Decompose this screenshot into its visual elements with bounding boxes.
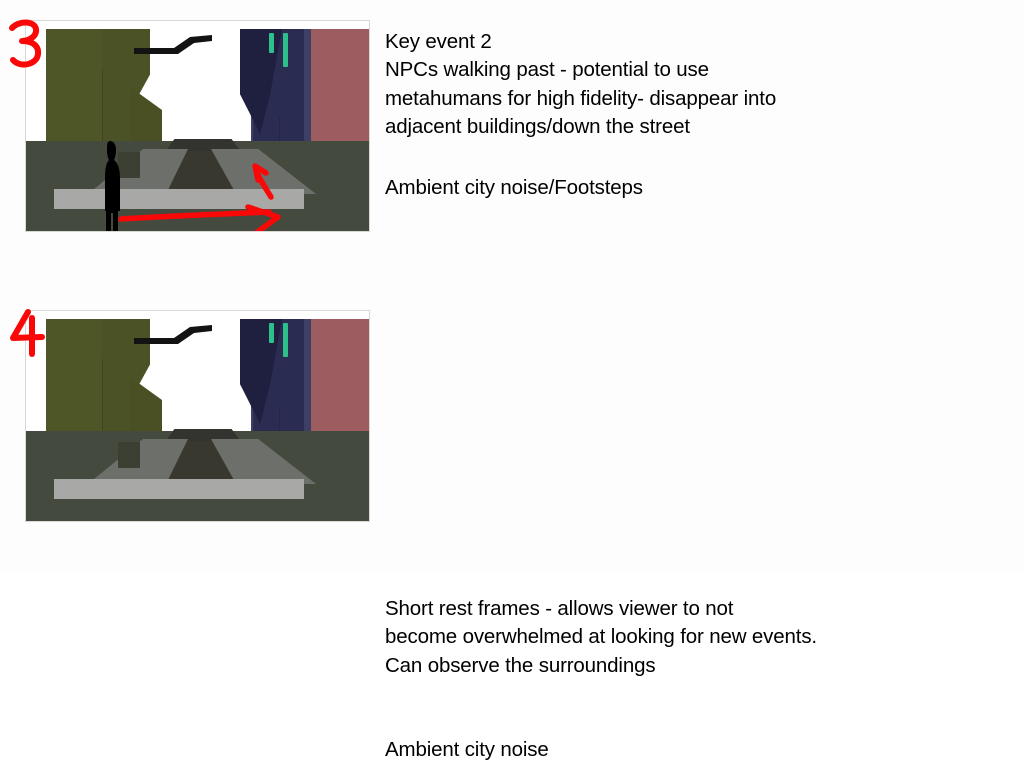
teal-accent-strip-right <box>283 323 288 357</box>
scene-panel-rest-frame[interactable] <box>25 310 370 522</box>
teal-accent-strip-left <box>269 323 274 343</box>
frame-index-number-3: 3 <box>8 18 54 70</box>
ground-plane-near <box>26 209 369 232</box>
note-heading-row-1: Key event 2 <box>385 28 985 56</box>
storyboard-row-2: 4 Short rest frames - allows viewer to n… <box>0 290 1024 560</box>
notes-column-row-1: Key event 2 NPCs walking past - potentia… <box>385 28 985 202</box>
overhead-pipe <box>134 34 212 56</box>
overhead-pipe <box>134 324 212 346</box>
storyboard-row-1: 3 Key event 2 NPCs walking past - potent… <box>0 0 1024 270</box>
pedestrian-silhouette <box>101 139 123 232</box>
note-audio-row-1: Ambient city noise/Footsteps <box>385 174 985 202</box>
teal-accent-strip-right <box>283 33 288 67</box>
scene-panel-key-event-2[interactable] <box>25 20 370 232</box>
note-audio-row-2: Ambient city noise <box>385 736 985 764</box>
ground-plane-near <box>26 499 369 522</box>
note-body-row-2: Short rest frames - allows viewer to not… <box>385 595 985 680</box>
teal-accent-strip-left <box>269 33 274 53</box>
note-body-row-1: NPCs walking past - potential to use met… <box>385 56 985 141</box>
frame-index-number-4: 4 <box>8 306 54 358</box>
notes-column-row-2: Short rest frames - allows viewer to not… <box>385 595 985 764</box>
olive-building-doorway <box>118 442 140 468</box>
